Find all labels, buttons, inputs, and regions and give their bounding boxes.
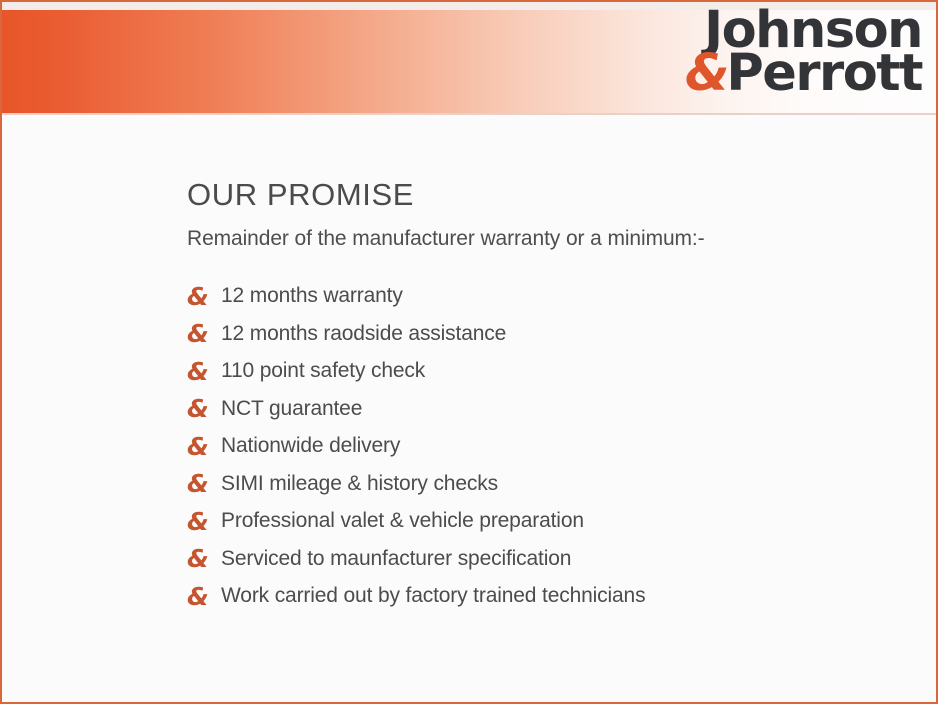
ampersand-bullet-icon: &: [187, 434, 221, 459]
list-item: & 110 point safety check: [187, 352, 912, 390]
banner-divider: [2, 113, 936, 115]
list-item-label: Nationwide delivery: [221, 434, 400, 458]
list-item: & 12 months warranty: [187, 277, 912, 315]
logo-ampersand-icon: &: [685, 44, 725, 103]
ampersand-bullet-icon: &: [187, 359, 221, 384]
ampersand-bullet-icon: &: [187, 471, 221, 496]
ampersand-bullet-icon: &: [187, 584, 221, 609]
list-item: & Professional valet & vehicle preparati…: [187, 502, 912, 540]
list-item-label: Serviced to maunfacturer specification: [221, 547, 571, 571]
list-item: & NCT guarantee: [187, 390, 912, 428]
list-item-label: Work carried out by factory trained tech…: [221, 584, 645, 608]
list-item-label: 12 months warranty: [221, 284, 403, 308]
list-item: & Work carried out by factory trained te…: [187, 577, 912, 615]
list-item: & SIMI mileage & history checks: [187, 465, 912, 503]
ampersand-bullet-icon: &: [187, 546, 221, 571]
list-item: & Serviced to maunfacturer specification: [187, 540, 912, 578]
page-title: OUR PROMISE: [187, 178, 912, 212]
logo-text-perrott-line: &Perrott: [685, 51, 922, 98]
promise-page: Johnson &Perrott OUR PROMISE Remainder o…: [0, 0, 938, 704]
ampersand-bullet-icon: &: [187, 396, 221, 421]
list-item-label: NCT guarantee: [221, 397, 362, 421]
page-subtitle: Remainder of the manufacturer warranty o…: [187, 226, 912, 251]
logo-text-perrott: Perrott: [726, 44, 922, 103]
list-item-label: Professional valet & vehicle preparation: [221, 509, 584, 533]
johnson-perrott-logo: Johnson &Perrott: [685, 8, 922, 98]
ampersand-bullet-icon: &: [187, 284, 221, 309]
promise-content: OUR PROMISE Remainder of the manufacture…: [187, 178, 912, 615]
list-item-label: 110 point safety check: [221, 359, 425, 383]
promise-list: & 12 months warranty & 12 months raodsid…: [187, 277, 912, 615]
list-item-label: SIMI mileage & history checks: [221, 472, 498, 496]
list-item: & 12 months raodside assistance: [187, 315, 912, 353]
ampersand-bullet-icon: &: [187, 509, 221, 534]
ampersand-bullet-icon: &: [187, 321, 221, 346]
list-item: & Nationwide delivery: [187, 427, 912, 465]
list-item-label: 12 months raodside assistance: [221, 322, 506, 346]
